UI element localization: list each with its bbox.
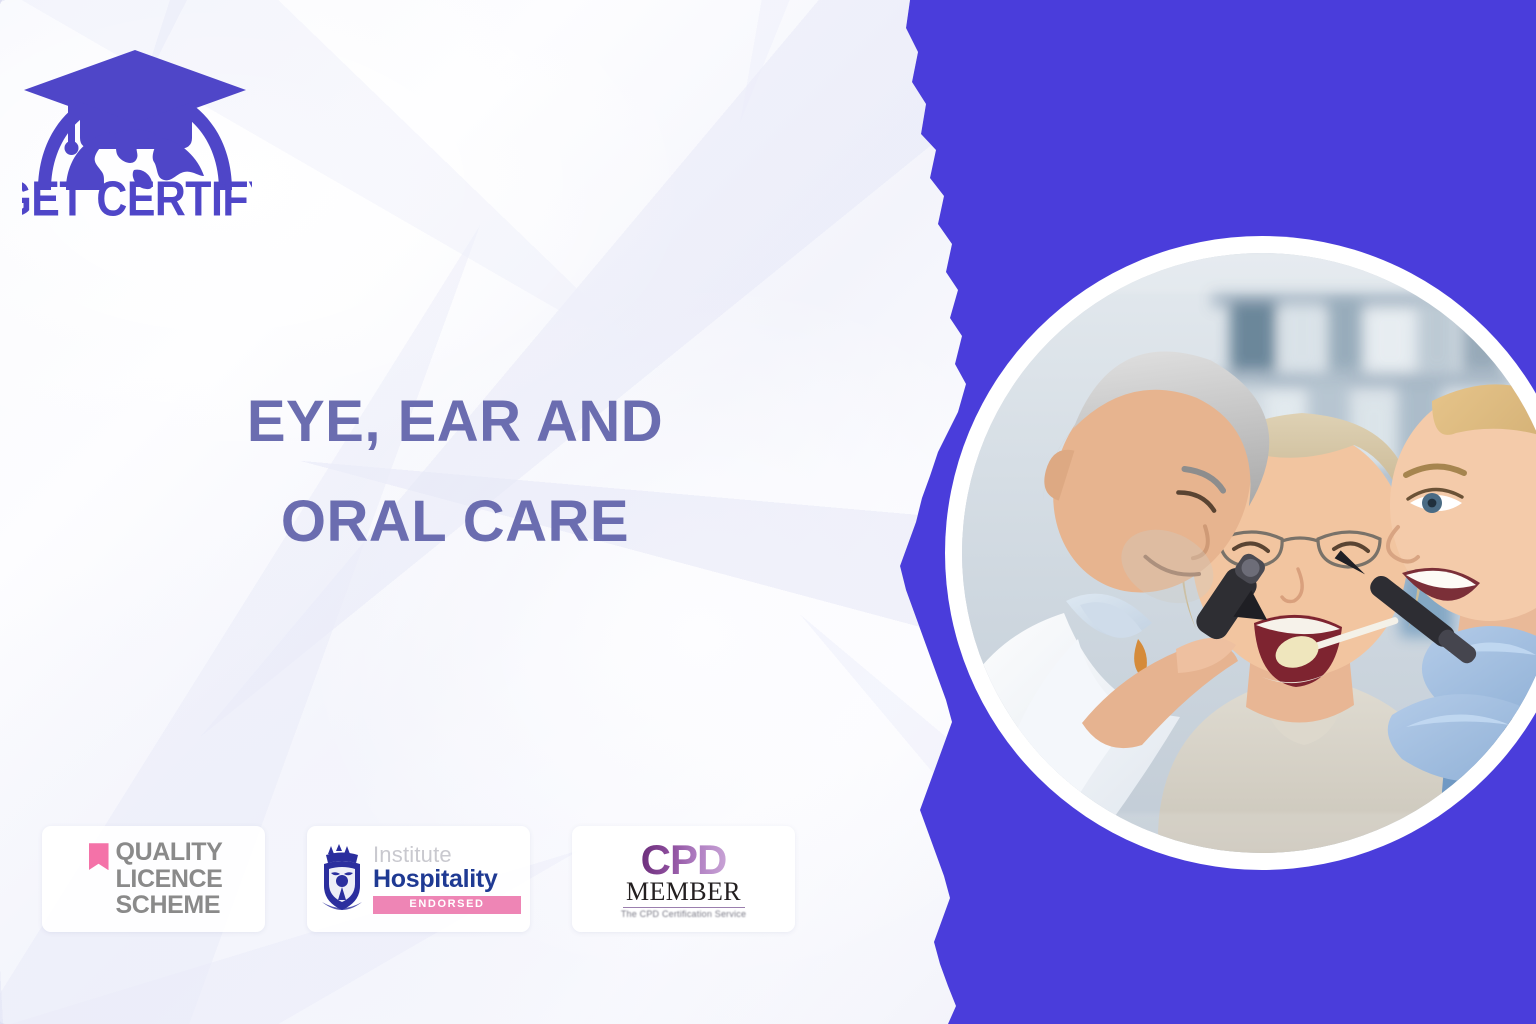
banner-stage: GET CERTIFY EYE, EAR AND ORAL CARE QUALI… — [0, 0, 1536, 1024]
ioh-endorsed-banner: ENDORSED — [373, 896, 521, 914]
hero-photo — [962, 253, 1536, 853]
accreditation-badges: QUALITY LICENCE SCHEME — [42, 826, 802, 934]
badge-institute-of-hospitality[interactable]: Institute Hospitality ENDORSED — [307, 826, 530, 932]
brand-logo[interactable]: GET CERTIFY — [22, 42, 252, 222]
qls-line-3: SCHEME — [116, 892, 223, 919]
badge-quality-licence-scheme[interactable]: QUALITY LICENCE SCHEME — [42, 826, 265, 932]
cpd-subtitle: The CPD Certification Service — [621, 910, 746, 919]
page-title-line-1: EYE, EAR AND — [40, 372, 870, 472]
cpd-divider — [623, 907, 745, 908]
qls-line-1: QUALITY — [116, 839, 223, 866]
pink-ribbon-bookmark-icon — [89, 843, 109, 870]
ioh-hospitality-label: Hospitality — [373, 867, 521, 892]
qls-line-2: LICENCE — [116, 866, 223, 893]
cpd-member-label: MEMBER — [626, 879, 741, 905]
brand-logo-text: GET CERTIFY — [22, 171, 252, 222]
page-title: EYE, EAR AND ORAL CARE — [40, 372, 870, 572]
hero-photo-illustration — [962, 253, 1536, 853]
cpd-label: CPD — [641, 839, 727, 881]
badge-cpd-member[interactable]: CPD MEMBER The CPD Certification Service — [572, 826, 795, 932]
ioh-institute-label: Institute — [373, 844, 521, 866]
heraldic-crest-icon — [316, 844, 368, 914]
page-title-line-2: ORAL CARE — [40, 472, 870, 572]
graduation-cap-globe-icon: GET CERTIFY — [22, 42, 252, 222]
